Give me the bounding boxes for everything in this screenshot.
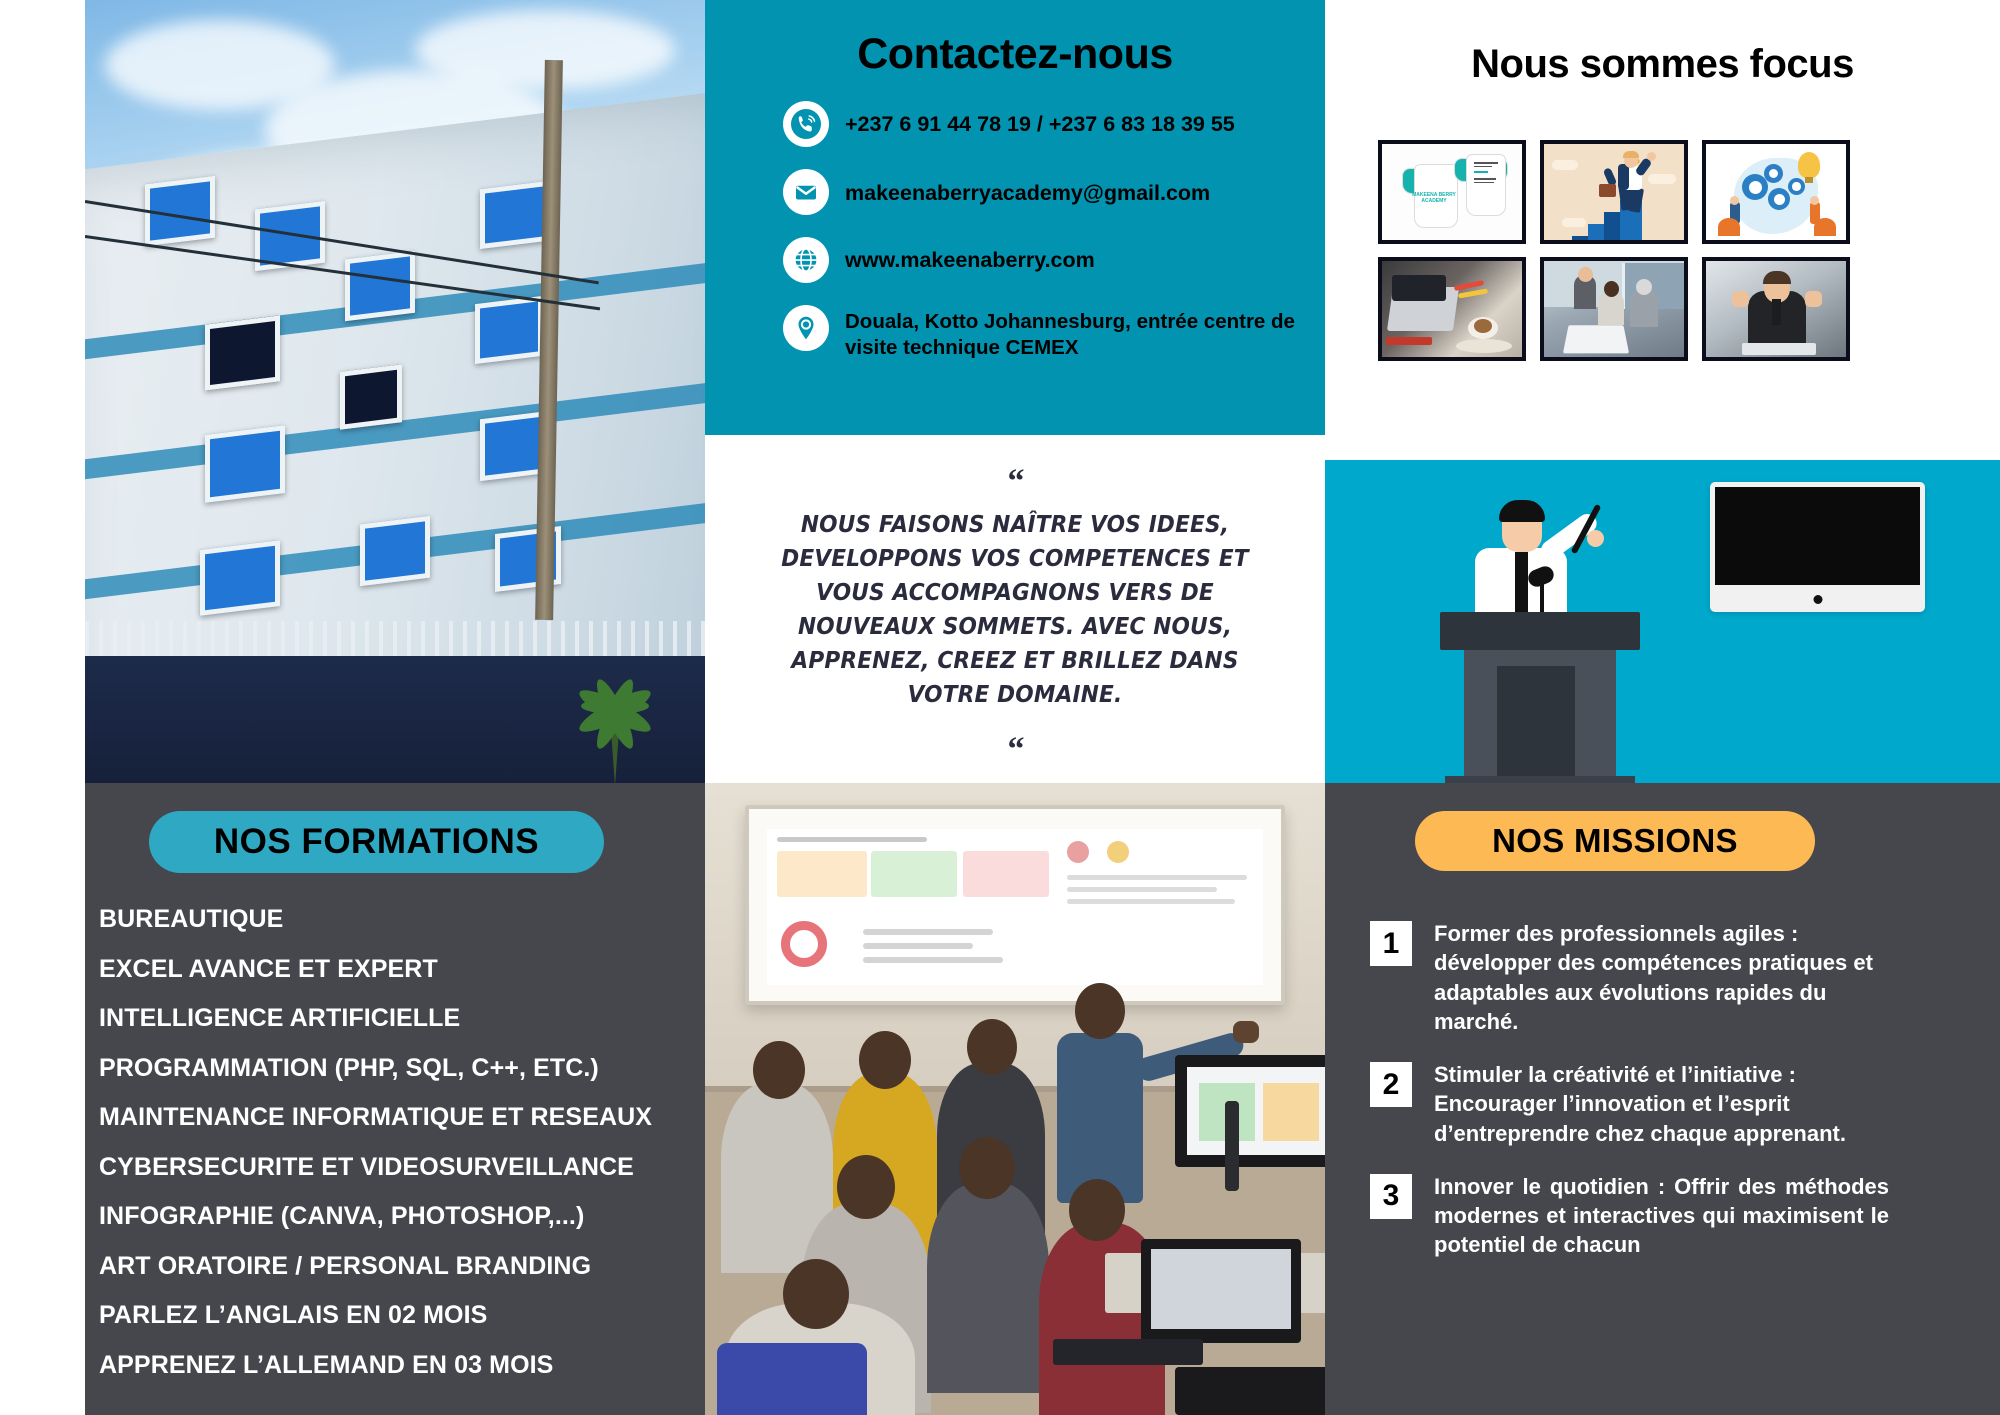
teacher-figure (1057, 1033, 1143, 1203)
website-text: www.makeenaberry.com (845, 237, 1095, 275)
podium-top (1440, 612, 1640, 650)
formation-item: ART ORATOIRE / PERSONAL BRANDING (99, 1254, 705, 1279)
student-head (783, 1259, 849, 1329)
presentation-screen (1710, 482, 1925, 612)
phone-number-text: +237 6 91 44 78 19 / +237 6 83 18 39 55 (845, 101, 1235, 139)
formation-item: MAINTENANCE INFORMATIQUE ET RESEAUX (99, 1105, 705, 1130)
contact-row-address[interactable]: Douala, Kotto Johannesburg, entrée centr… (725, 305, 1305, 361)
formation-item: INFOGRAPHIE (CANVA, PHOTOSHOP,...) (99, 1204, 705, 1229)
microphone-stand (1540, 582, 1544, 616)
quote-panel: “ NOUS FAISONS NAÎTRE VOS IDEES, DEVELOP… (705, 435, 1325, 783)
chair (717, 1343, 867, 1415)
keyboard (1053, 1339, 1203, 1365)
student-head (1069, 1179, 1125, 1241)
missions-section: NOS MISSIONS 1 Former des professionnels… (1325, 783, 2000, 1415)
contact-row-phone[interactable]: +237 6 91 44 78 19 / +237 6 83 18 39 55 (725, 101, 1305, 147)
student-head (859, 1031, 911, 1089)
focus-panel: Nous sommes focus MAKEENA BERRYACADEMY (1325, 0, 2000, 460)
quote-close-mark: “ (1008, 733, 1023, 767)
teacher-head (1075, 983, 1125, 1039)
mission-row: 3 Innover le quotidien : Offrir des méth… (1370, 1172, 1976, 1260)
student-monitor-screen (1151, 1249, 1291, 1329)
mission-number-badge: 2 (1370, 1062, 1412, 1107)
desktop-tower (1175, 1367, 1325, 1415)
missions-list: 1 Former des professionnels agiles : dév… (1325, 919, 2000, 1260)
formations-heading: NOS FORMATIONS (149, 811, 604, 873)
speaker-hair (1499, 500, 1545, 522)
mission-text: Stimuler la créativité et l’initiative :… (1434, 1060, 1889, 1148)
student-head (967, 1019, 1017, 1075)
window (205, 425, 285, 503)
tshirt-mockup-image: MAKEENA BERRYACADEMY (1378, 140, 1526, 244)
email-icon (783, 169, 829, 215)
podium-panel (1497, 666, 1575, 783)
window (360, 516, 430, 587)
contact-panel: Contactez-nous +237 6 91 44 78 19 / +237… (705, 0, 1325, 435)
screen-indicator-dot (1813, 595, 1822, 604)
location-pin-icon (783, 305, 829, 351)
happy-man-laptop-photo (1702, 257, 1850, 361)
formation-item: APPRENEZ L’ALLEMAND EN 03 MOIS (99, 1353, 705, 1378)
student-head (753, 1041, 805, 1099)
palm-tree (555, 656, 675, 786)
quote-text: NOUS FAISONS NAÎTRE VOS IDEES, DEVELOPPO… (757, 507, 1272, 711)
speaker-podium-illustration (1325, 460, 2000, 783)
mission-number-badge: 3 (1370, 1174, 1412, 1219)
microphone-boom (1225, 1101, 1239, 1191)
screen-display (1715, 487, 1920, 585)
academy-building-photo (85, 0, 705, 786)
mission-text: Former des professionnels agiles : dével… (1434, 919, 1889, 1036)
focus-title: Nous sommes focus (1325, 42, 2000, 87)
teacher-hand (1233, 1021, 1259, 1043)
formation-item: BUREAUTIQUE (99, 907, 705, 932)
email-text: makeenaberryacademy@gmail.com (845, 169, 1210, 208)
podium-base (1445, 776, 1635, 783)
classroom-training-photo (705, 783, 1325, 1415)
projected-slide (767, 829, 1263, 985)
mission-number-badge: 1 (1370, 921, 1412, 966)
missions-heading: NOS MISSIONS (1415, 811, 1815, 871)
formation-item: PROGRAMMATION (PHP, SQL, C++, ETC.) (99, 1056, 705, 1081)
globe-icon (783, 237, 829, 283)
mission-row: 1 Former des professionnels agiles : dév… (1370, 919, 1976, 1036)
window (200, 540, 280, 616)
mission-text: Innover le quotidien : Offrir des méthod… (1434, 1172, 1889, 1260)
formation-item: EXCEL AVANCE ET EXPERT (99, 957, 705, 982)
businessman-stairs-illustration (1540, 140, 1688, 244)
whiteboard (745, 805, 1285, 1005)
window (475, 296, 543, 364)
window (340, 364, 402, 430)
formation-item: PARLEZ L’ANGLAIS EN 02 MOIS (99, 1303, 705, 1328)
contact-row-email[interactable]: makeenaberryacademy@gmail.com (725, 169, 1305, 215)
formation-item: CYBERSECURITE ET VIDEOSURVEILLANCE (99, 1155, 705, 1180)
address-text: Douala, Kotto Johannesburg, entrée centr… (845, 305, 1305, 361)
window (345, 251, 415, 322)
contact-title: Contactez-nous (725, 30, 1305, 79)
phone-icon (783, 101, 829, 147)
mission-row: 2 Stimuler la créativité et l’initiative… (1370, 1060, 1976, 1148)
speaker-tie (1515, 552, 1528, 614)
screen-chart (1263, 1083, 1319, 1141)
student-head (959, 1137, 1015, 1199)
flyer-page: Contactez-nous +237 6 91 44 78 19 / +237… (0, 0, 2000, 1415)
window (480, 181, 548, 249)
formations-list: BUREAUTIQUE EXCEL AVANCE ET EXPERT INTEL… (85, 907, 705, 1378)
team-meeting-photo (1540, 257, 1688, 361)
window (205, 315, 280, 390)
laptop-coffee-desk-photo (1378, 257, 1526, 361)
focus-image-grid: MAKEENA BERRYACADEMY (1378, 140, 1878, 361)
gears-lightbulb-illustration (1702, 140, 1850, 244)
quote-open-mark: “ (1008, 465, 1023, 499)
left-margin (0, 0, 85, 1415)
formation-item: INTELLIGENCE ARTIFICIELLE (99, 1006, 705, 1031)
student-head (837, 1155, 895, 1219)
contact-row-website[interactable]: www.makeenaberry.com (725, 237, 1305, 283)
speaker-hand (1587, 530, 1604, 547)
formations-section: NOS FORMATIONS BUREAUTIQUE EXCEL AVANCE … (85, 783, 705, 1415)
student-figure (927, 1183, 1049, 1393)
